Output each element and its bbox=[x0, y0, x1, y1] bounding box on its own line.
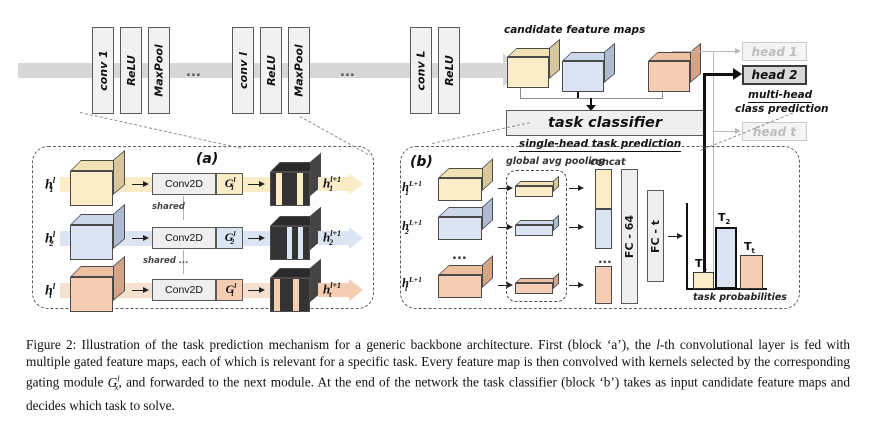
backbone-layer-reluL: ReLU bbox=[438, 27, 460, 114]
block-b-input-symbol-1: hL+11 bbox=[402, 180, 409, 196]
backbone-ellipsis-2: ... bbox=[340, 66, 355, 79]
backbone-layer-conv1: conv 1 bbox=[92, 27, 114, 114]
block-a-title: (a) bbox=[196, 152, 218, 166]
block-a-row3-arrow-in bbox=[132, 290, 150, 292]
block-a-row2-gate-box: Gl2 bbox=[216, 227, 243, 249]
concat-label: concat bbox=[590, 158, 626, 168]
block-b-input-cube-2 bbox=[438, 207, 496, 240]
block-a-row3-input-symbol: hlt bbox=[45, 282, 52, 300]
kernel-stripe bbox=[298, 227, 303, 259]
task-classifier-box: task classifier bbox=[506, 110, 704, 136]
block-a-row2-input-cube bbox=[70, 214, 126, 260]
gap-pooled-vector-1 bbox=[515, 181, 561, 197]
multi-head-label-line2: class prediction bbox=[735, 104, 829, 115]
chart-title-task-probabilities: task probabilities bbox=[693, 293, 787, 303]
block-a-row3-output-symbol: hl+1t bbox=[323, 282, 331, 299]
backbone-layer-relul: ReLU bbox=[260, 27, 282, 114]
block-b-input-symbol-2: hL+12 bbox=[402, 219, 409, 235]
block-b-title: (b) bbox=[410, 155, 433, 169]
backbone-layer-convl: conv l bbox=[232, 27, 254, 114]
candidate-cube-taskt bbox=[648, 52, 702, 92]
backbone-layer-label: ReLU bbox=[125, 55, 138, 86]
concat-segment-task1 bbox=[595, 169, 612, 209]
block-a-row1-arrow-out bbox=[248, 184, 266, 186]
block-a-row3-kernel-cube bbox=[270, 268, 322, 312]
block-b-inputs-ellipsis: ... bbox=[452, 249, 467, 262]
fc-to-chart-arrow bbox=[668, 236, 684, 238]
kernel-stripe bbox=[287, 227, 292, 259]
concat-segment-task2 bbox=[595, 209, 612, 249]
block-a-row2-output-symbol: hl+12 bbox=[323, 230, 333, 247]
backbone-layer-relu1: ReLU bbox=[120, 27, 142, 114]
conv2d-label: Conv2D bbox=[165, 232, 203, 244]
head1-feed-line bbox=[672, 51, 736, 52]
fc-t-block: FC - t bbox=[647, 190, 664, 282]
gate-label: Gl1 bbox=[225, 176, 234, 192]
block-a-row2-input-symbol: hl2 bbox=[45, 230, 54, 248]
head-box-head-t[interactable]: head t bbox=[742, 122, 807, 141]
head-box-head-1[interactable]: head 1 bbox=[742, 42, 807, 61]
block-a-row1-output-symbol: hl+11 bbox=[323, 176, 333, 193]
block-a-shared-label-1: shared bbox=[152, 203, 185, 212]
block-a-row2-conv2d-box: Conv2D bbox=[152, 227, 216, 249]
block-a-row1-arrow-in bbox=[132, 184, 150, 186]
backbone-layer-label: conv l bbox=[237, 52, 250, 89]
block-a-row3-gate-box: Glt bbox=[216, 279, 243, 301]
backbone-layer-maxpooll: MaxPool bbox=[288, 27, 310, 114]
block-a-row1-conv2d-box: Conv2D bbox=[152, 173, 216, 195]
head-label: head 1 bbox=[752, 45, 798, 59]
backbone-layer-convL: conv L bbox=[410, 27, 432, 114]
backbone-layer-maxpool1: MaxPool bbox=[148, 27, 170, 114]
block-a-shared-label-2: shared ... bbox=[143, 257, 189, 266]
chart-bar-Tt bbox=[740, 255, 763, 289]
block-b-gap-out-arrow-3 bbox=[569, 285, 585, 287]
block-b-input-symbol-3: hL+1t bbox=[402, 276, 407, 292]
chart-bar-label-T1: T1 bbox=[695, 258, 707, 272]
block-a-row3-arrow-out bbox=[248, 290, 266, 292]
block-b-input-cube-3 bbox=[438, 265, 496, 298]
backbone-ellipsis-1: ... bbox=[186, 66, 201, 79]
multi-head-label-line1: multi-head bbox=[748, 90, 812, 103]
gate-label: Glt bbox=[226, 282, 234, 298]
selected-head-path-horizontal bbox=[703, 73, 735, 76]
fc-t-label: FC - t bbox=[649, 219, 662, 252]
head-label: head 2 bbox=[752, 68, 798, 82]
kernel-stripe bbox=[274, 279, 280, 311]
block-a-leader-left bbox=[80, 112, 241, 149]
chart-bar-T1 bbox=[693, 272, 714, 289]
candidate-cube-task2 bbox=[562, 52, 616, 92]
candidate-feature-maps-label: candidate feature maps bbox=[504, 25, 645, 36]
block-b-input-cube-1 bbox=[438, 168, 496, 201]
block-a-row2-arrow-out bbox=[248, 238, 266, 240]
gate-label: Gl2 bbox=[225, 230, 234, 246]
block-a-row2-kernel-cube bbox=[270, 216, 322, 260]
block-a-row1-kernel-cube bbox=[270, 162, 322, 206]
figure-caption: Figure 2: Illustration of the task predi… bbox=[26, 336, 850, 414]
backbone-layer-label: conv L bbox=[415, 51, 428, 91]
backbone-layer-label: ReLU bbox=[443, 55, 456, 86]
gap-pooled-vector-3 bbox=[515, 278, 561, 294]
block-a-row1-gate-box: Gl1 bbox=[216, 173, 243, 195]
block-b-gap-out-arrow-1 bbox=[569, 188, 585, 190]
candidate-cube-task1 bbox=[507, 48, 561, 88]
concat-ellipsis: ... bbox=[598, 253, 612, 265]
chart-bar-label-Tt: Tt bbox=[744, 241, 755, 255]
head1-feed-arrowhead bbox=[735, 48, 741, 54]
backbone-layer-label: MaxPool bbox=[293, 44, 306, 96]
kernel-stripe bbox=[297, 173, 303, 205]
block-a-row3-input-cube bbox=[70, 266, 126, 312]
conv2d-label: Conv2D bbox=[165, 284, 203, 296]
backbone-layer-label: MaxPool bbox=[153, 44, 166, 96]
figure-2-container: conv 1 ReLU MaxPool ... conv l ReLU MaxP… bbox=[0, 0, 875, 429]
headt-feed-line bbox=[713, 131, 736, 132]
chart-bar-label-T2: T2 bbox=[718, 212, 730, 226]
concat-segment-taskt bbox=[595, 266, 612, 304]
fc-64-block: FC - 64 bbox=[621, 169, 638, 304]
kernel-stripe bbox=[276, 173, 282, 205]
gap-pooled-vector-2 bbox=[515, 220, 561, 236]
block-a-row2-arrow-in bbox=[132, 238, 150, 240]
block-a-row1-input-cube bbox=[70, 160, 126, 206]
task-classifier-label: task classifier bbox=[548, 116, 662, 131]
chart-y-axis bbox=[686, 203, 688, 289]
block-a-row3-conv2d-box: Conv2D bbox=[152, 279, 216, 301]
chart-bar-T2 bbox=[715, 227, 737, 289]
selected-head-arrowhead bbox=[733, 68, 742, 80]
block-a-row1-input-symbol: hl1 bbox=[45, 176, 54, 194]
head-box-head-2[interactable]: head 2 bbox=[742, 65, 807, 85]
conv2d-label: Conv2D bbox=[165, 178, 203, 190]
backbone-layer-label: conv 1 bbox=[97, 50, 110, 91]
kernel-stripe bbox=[293, 279, 299, 311]
fc-64-label: FC - 64 bbox=[623, 215, 636, 258]
backbone-layer-label: ReLU bbox=[265, 55, 278, 86]
block-b-gap-out-arrow-2 bbox=[569, 227, 585, 229]
